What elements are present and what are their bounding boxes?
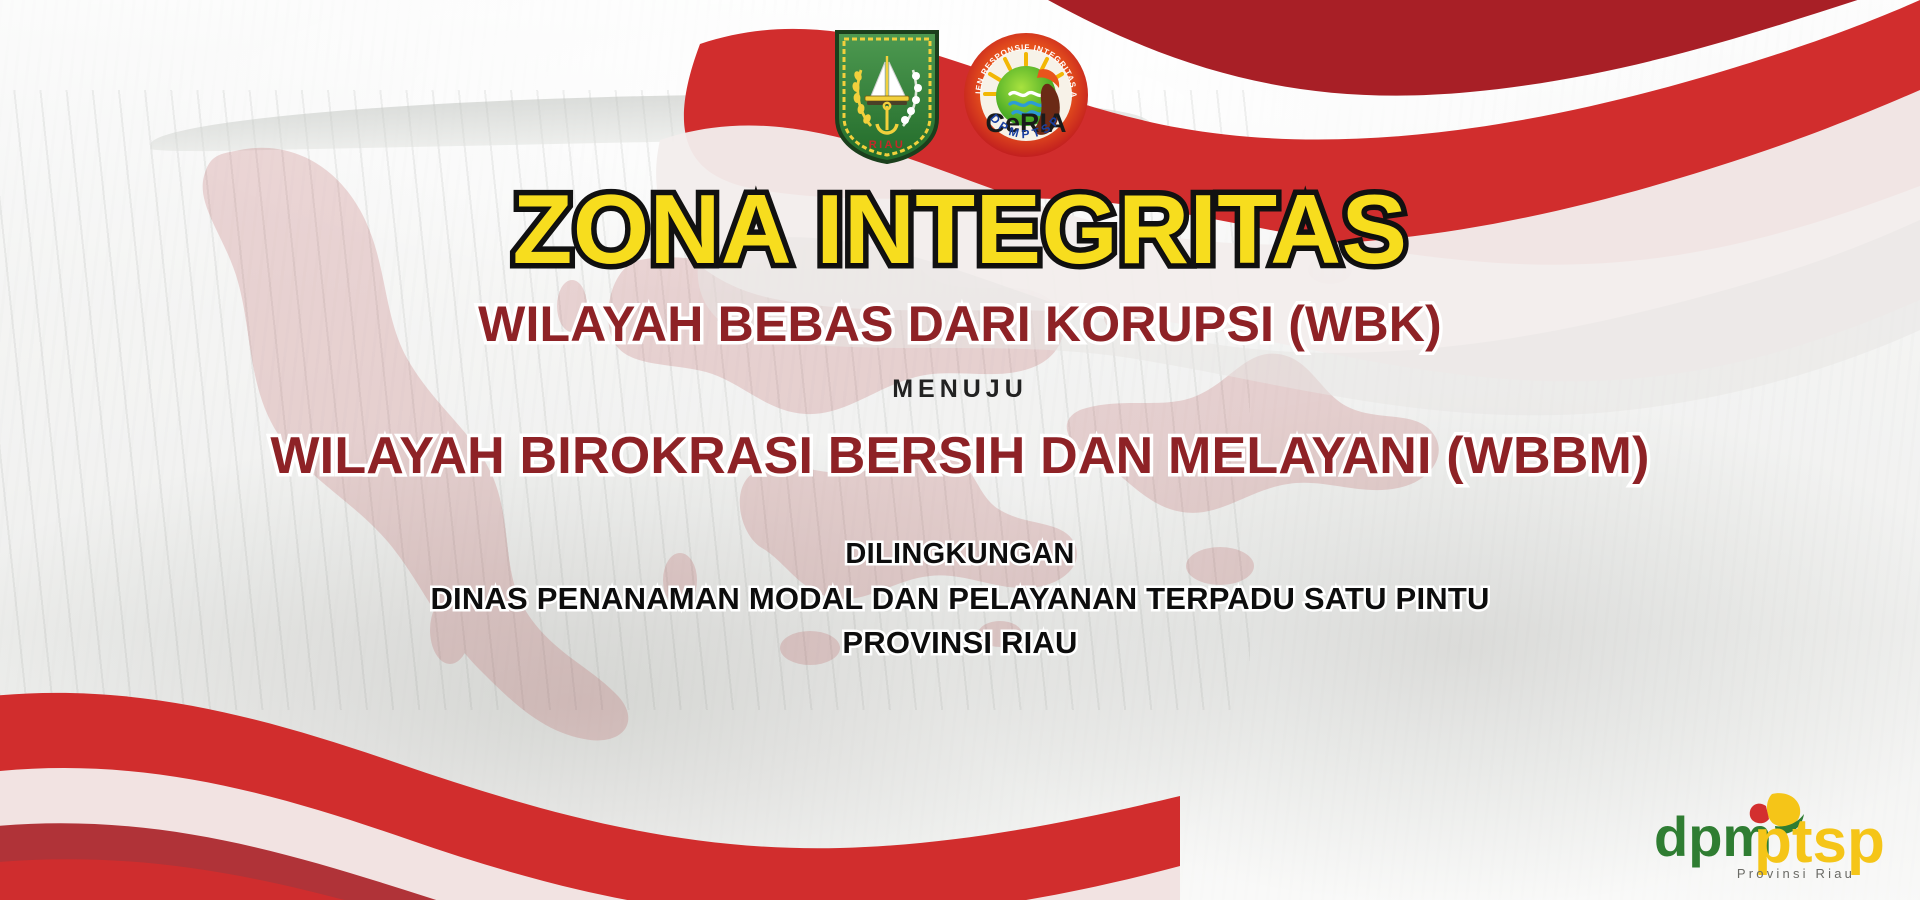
zona-integritas-banner: RIAU — [0, 0, 1920, 900]
banner-text-block: ZONA INTEGRITAS WILAYAH BEBAS DARI KORUP… — [0, 178, 1920, 661]
dpmptsp-wordmark-icon: dpm ptsp Provinsi Riau — [1646, 784, 1894, 884]
org-name-provinsi: PROVINSI RIAU — [0, 625, 1920, 661]
ceria-dpmptsp-seal-icon: CeRIA CEPAT EFISIEN RESPONSIF INTEGRITAS… — [963, 32, 1089, 158]
org-name-dinas: DINAS PENANAMAN MODAL DAN PELAYANAN TERP… — [0, 581, 1920, 617]
svg-text:Provinsi Riau: Provinsi Riau — [1737, 866, 1855, 881]
label-menuju: MENUJU — [0, 375, 1920, 404]
subtitle-wbbm: WILAYAH BIROKRASI BERSIH DAN MELAYANI (W… — [0, 426, 1920, 486]
label-dilingkungan: DILINGKUNGAN — [0, 538, 1920, 571]
subtitle-wbk: WILAYAH BEBAS DARI KORUPSI (WBK) — [0, 295, 1920, 353]
logo-row: RIAU — [0, 26, 1920, 166]
riau-provincial-seal-icon: RIAU — [831, 26, 943, 166]
title-zona-integritas: ZONA INTEGRITAS — [0, 178, 1920, 281]
svg-text:RIAU: RIAU — [869, 139, 906, 151]
